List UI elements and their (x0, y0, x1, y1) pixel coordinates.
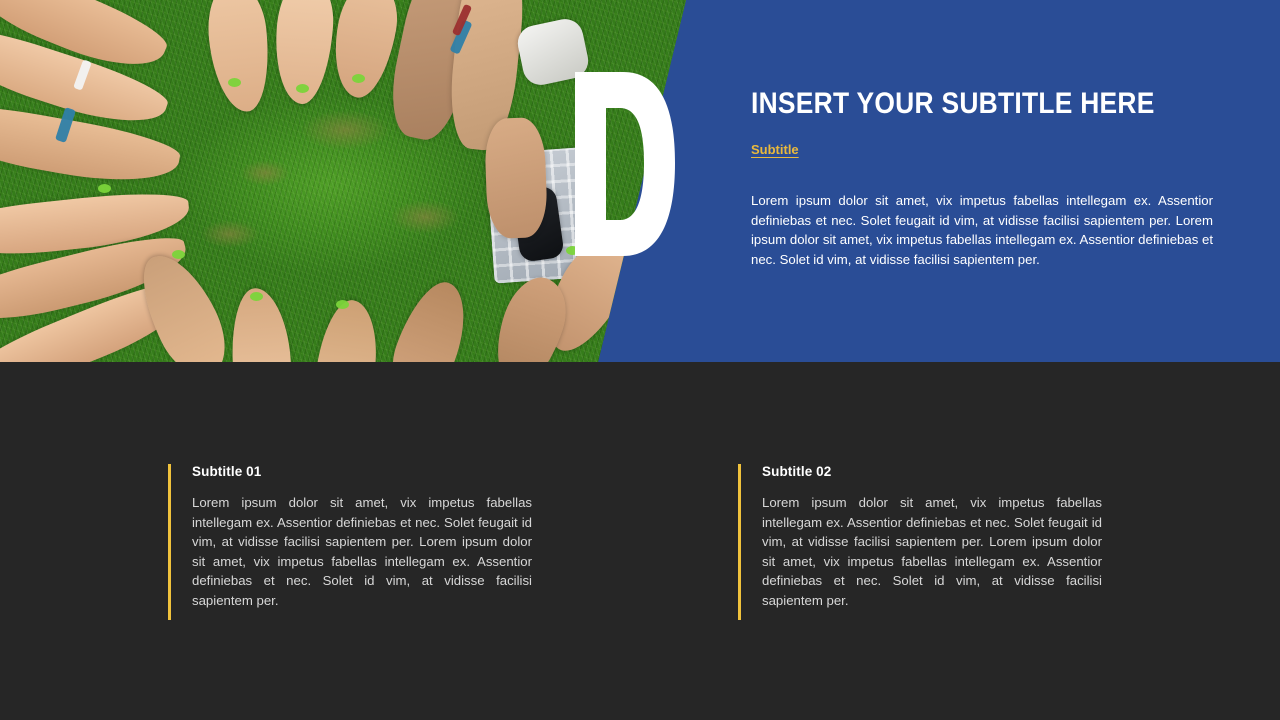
content-column-2: Subtitle 02 Lorem ipsum dolor sit amet, … (738, 464, 1110, 623)
toenail (566, 246, 579, 255)
presentation-slide: INSERT YOUR SUBTITLE HERE Subtitle Lorem… (0, 0, 1280, 720)
toenail (352, 74, 365, 83)
hero-section: INSERT YOUR SUBTITLE HERE Subtitle Lorem… (0, 0, 1280, 362)
subtitle-link[interactable]: Subtitle (751, 142, 799, 157)
toenail (250, 292, 263, 301)
hero-photo (0, 0, 700, 362)
dirt-patch (300, 110, 390, 150)
page-title: INSERT YOUR SUBTITLE HERE (751, 88, 1158, 120)
column-title: Subtitle 02 (762, 464, 1110, 479)
column-title: Subtitle 01 (192, 464, 540, 479)
dirt-patch (390, 200, 460, 234)
toenail (336, 300, 349, 309)
column-body-text: Lorem ipsum dolor sit amet, vix impetus … (192, 493, 532, 610)
toenail (172, 250, 185, 259)
toenail (98, 184, 111, 193)
column-body-text: Lorem ipsum dolor sit amet, vix impetus … (762, 493, 1102, 610)
content-column-1: Subtitle 01 Lorem ipsum dolor sit amet, … (168, 464, 540, 623)
toenail (228, 78, 241, 87)
dirt-patch (240, 160, 290, 186)
photo-grass-feet (0, 0, 700, 362)
hero-body-text: Lorem ipsum dolor sit amet, vix impetus … (751, 191, 1213, 269)
limb (484, 117, 548, 239)
dirt-patch (200, 220, 260, 248)
hero-text-block: INSERT YOUR SUBTITLE HERE Subtitle Lorem… (751, 88, 1213, 282)
lower-section: Subtitle 01 Lorem ipsum dolor sit amet, … (0, 362, 1280, 720)
toenail (296, 84, 309, 93)
